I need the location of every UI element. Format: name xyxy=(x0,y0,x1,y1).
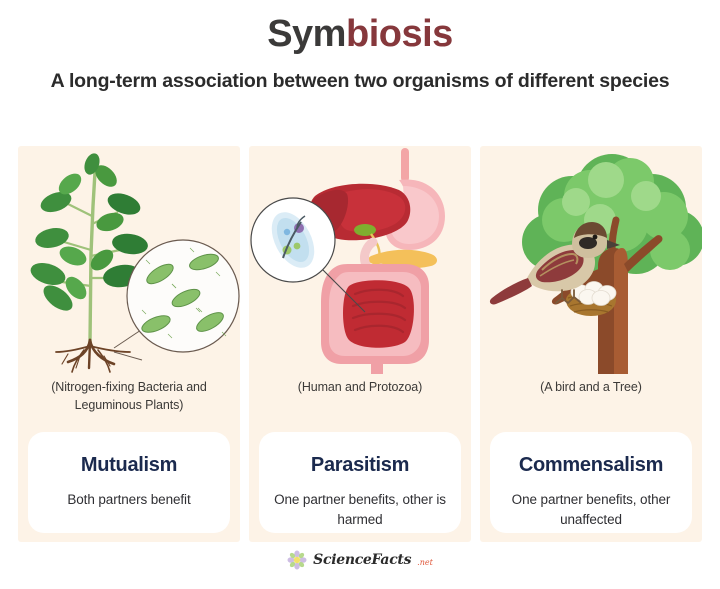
info-card-parasitism: Parasitism One partner benefits, other i… xyxy=(259,432,461,533)
page-title-part-1: Sym xyxy=(267,13,346,55)
symbiosis-type-description-commensalism: One partner benefits, other unaffected xyxy=(490,490,692,529)
info-card-mutualism: Mutualism Both partners benefit xyxy=(28,432,230,533)
page-title-part-2: biosis xyxy=(346,13,453,55)
symbiosis-type-title-parasitism: Parasitism xyxy=(311,454,409,477)
panel-mutualism: (Nitrogen-fixing Bacteria and Leguminous… xyxy=(18,146,240,542)
panel-caption-commensalism: (A bird and a Tree) xyxy=(488,378,694,396)
panel-caption-mutualism: (Nitrogen-fixing Bacteria and Leguminous… xyxy=(26,378,232,414)
header: Symbiosis A long-term association betwee… xyxy=(0,0,720,94)
legume-plant-with-root-nodule-bacteria-illustration xyxy=(18,146,240,374)
symbiosis-type-title-mutualism: Mutualism xyxy=(81,454,177,477)
logo-tld: .net xyxy=(417,558,433,570)
panels-row: (Nitrogen-fixing Bacteria and Leguminous… xyxy=(18,146,702,542)
symbiosis-type-title-commensalism: Commensalism xyxy=(519,454,663,477)
logo-text: ScienceFacts xyxy=(313,552,411,568)
panel-parasitism: (Human and Protozoa) Parasitism One part… xyxy=(249,146,471,542)
footer-branding: ScienceFacts .net xyxy=(0,550,720,570)
page-subtitle: A long-term association between two orga… xyxy=(50,68,670,94)
symbiosis-type-description-mutualism: Both partners benefit xyxy=(57,490,200,510)
tree-with-bird-and-nest-illustration xyxy=(480,146,702,374)
infographic-page: Symbiosis A long-term association betwee… xyxy=(0,0,720,589)
page-title: Symbiosis xyxy=(0,14,720,56)
panel-caption-parasitism: (Human and Protozoa) xyxy=(257,378,463,396)
human-digestive-system-with-protozoa-illustration xyxy=(249,146,471,374)
atom-flower-icon xyxy=(287,550,307,570)
info-card-commensalism: Commensalism One partner benefits, other… xyxy=(490,432,692,533)
panel-commensalism: (A bird and a Tree) Commensalism One par… xyxy=(480,146,702,542)
symbiosis-type-description-parasitism: One partner benefits, other is harmed xyxy=(259,490,461,529)
